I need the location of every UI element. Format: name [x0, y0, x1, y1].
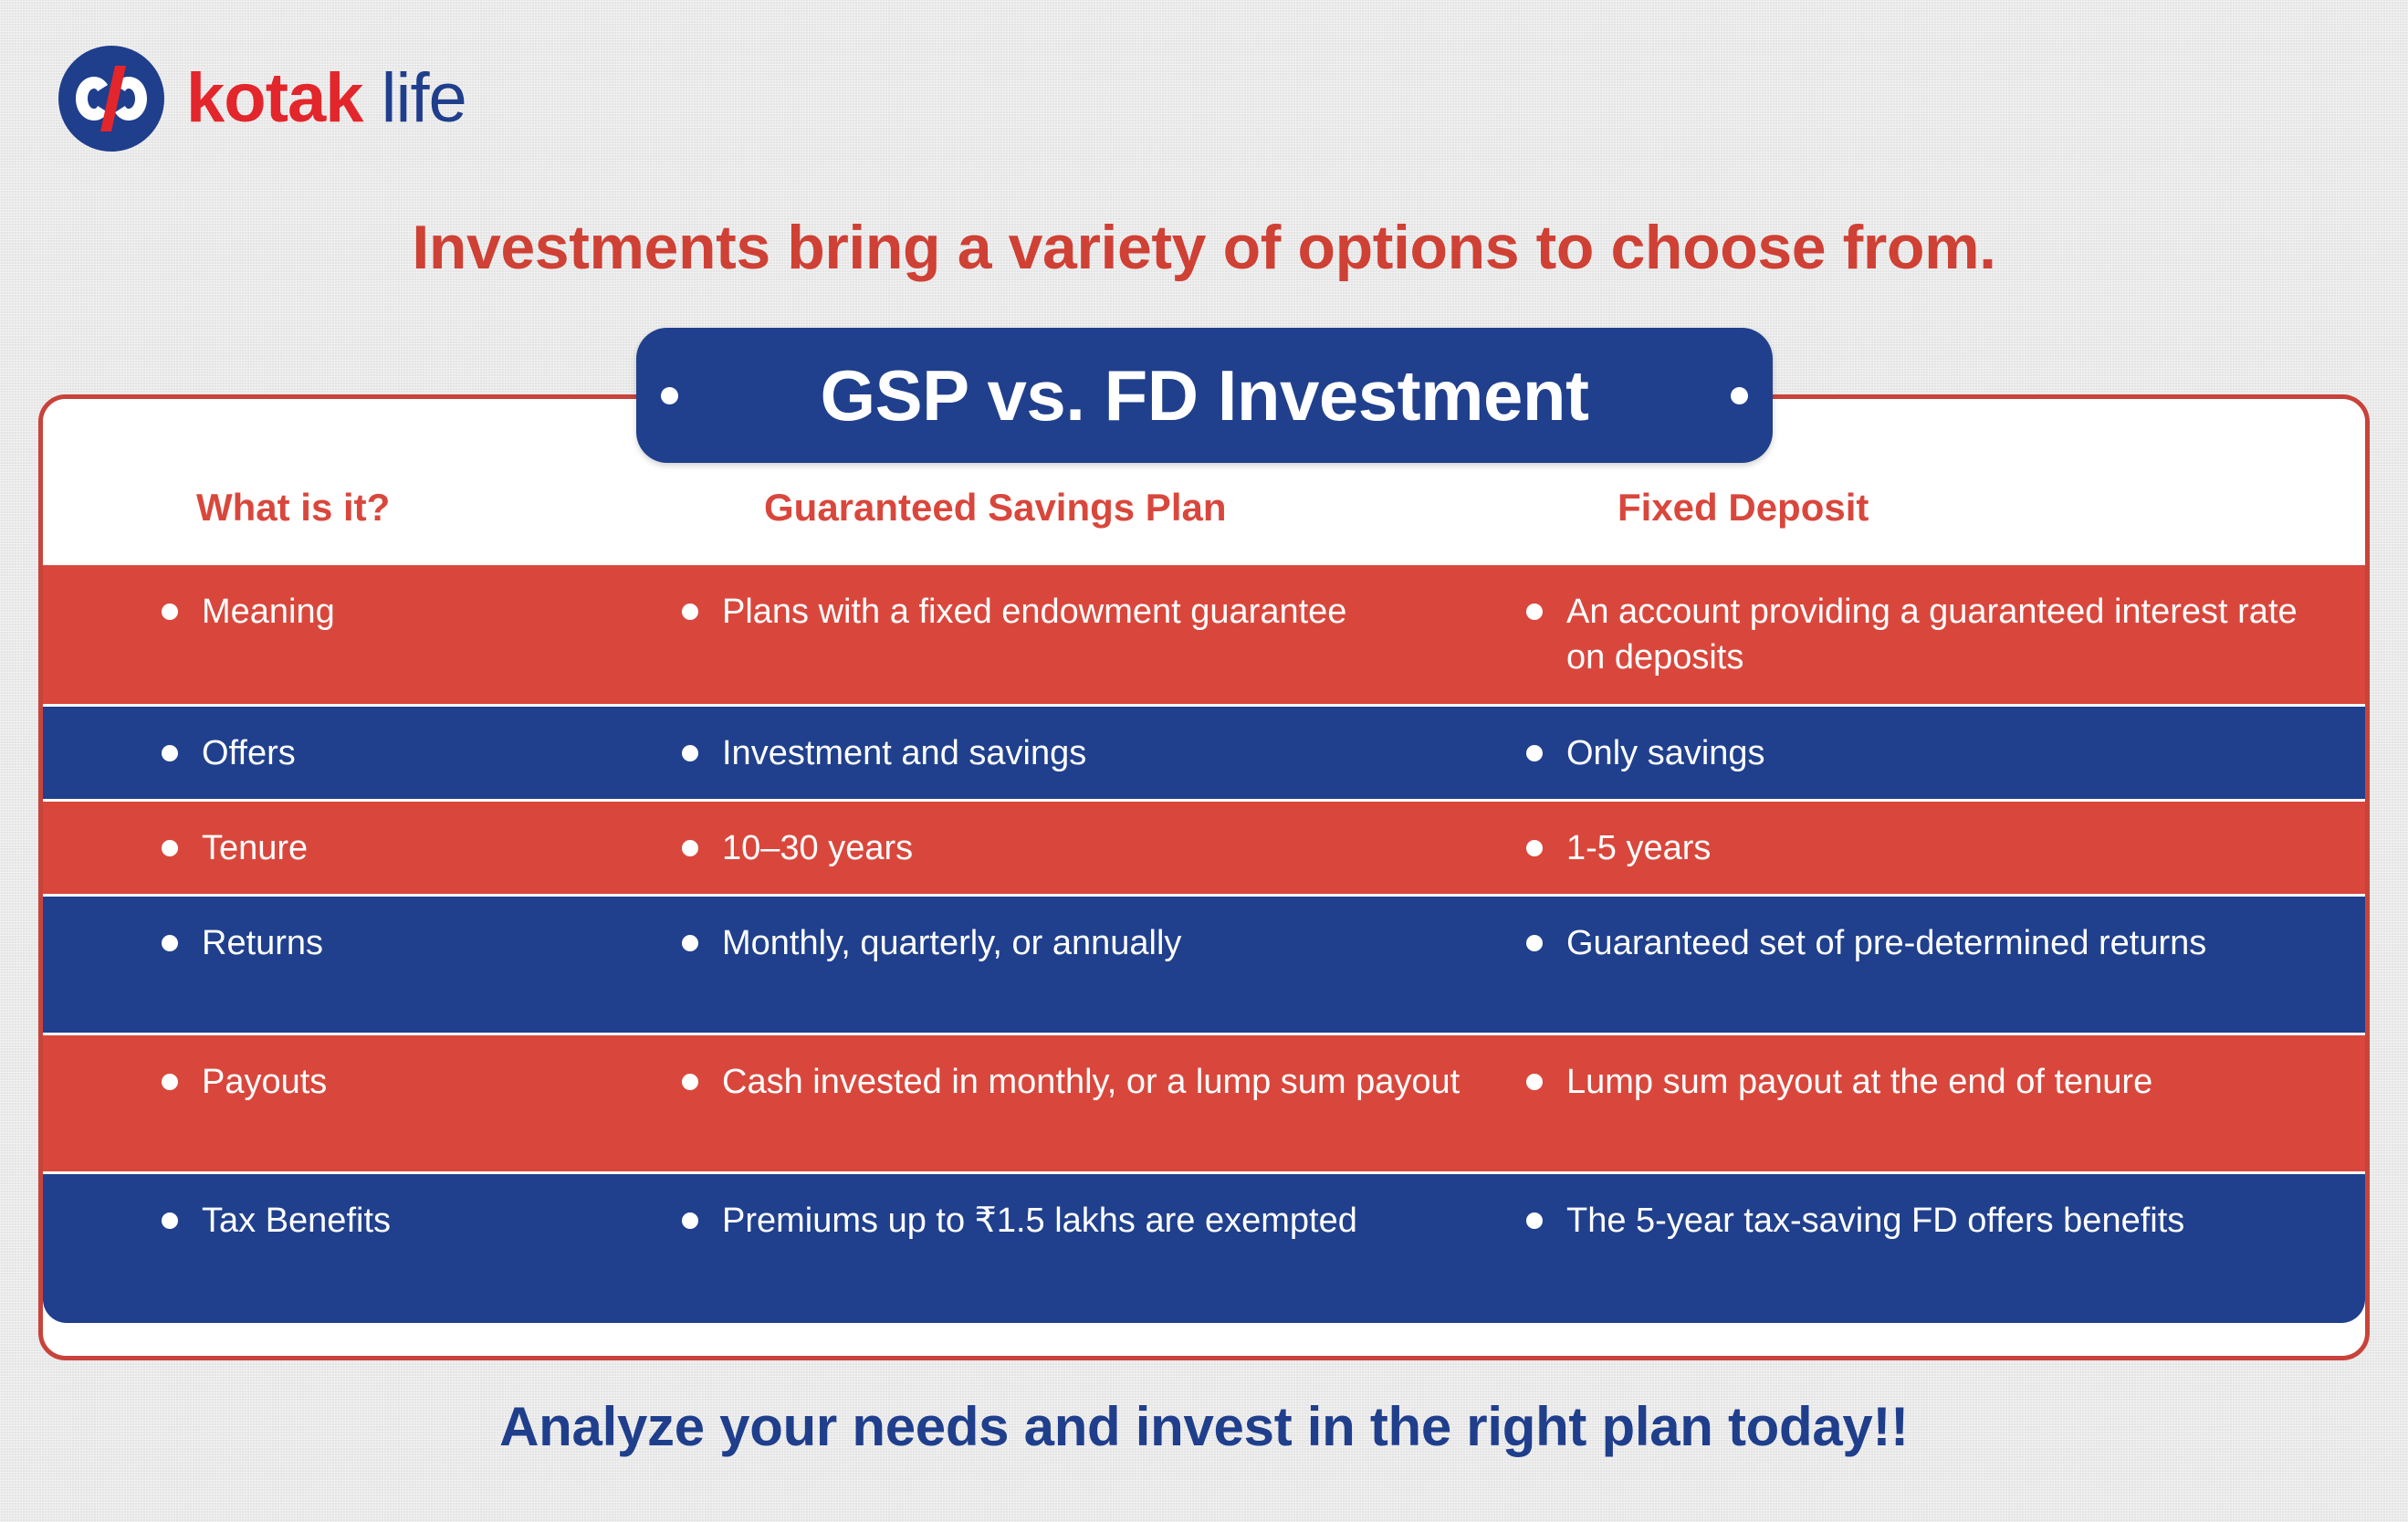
column-header-fixed-deposit: Fixed Deposit — [1618, 486, 1869, 530]
bullet-icon — [1526, 604, 1543, 620]
table-row: Tax BenefitsPremiums up to ₹1.5 lakhs ar… — [43, 1171, 2365, 1323]
row-value-fd-cell: An account providing a guaranteed intere… — [1508, 589, 2311, 680]
bullet-icon — [682, 1212, 698, 1229]
row-value-fd-cell: Guaranteed set of pre-determined returns — [1508, 920, 2311, 966]
table-row: OffersInvestment and savingsOnly savings — [43, 704, 2365, 799]
bullet-icon — [682, 604, 698, 620]
row-label: Payouts — [202, 1059, 327, 1105]
row-value-gsp-cell: Premiums up to ₹1.5 lakhs are exempted — [664, 1198, 1508, 1244]
row-label-cell: Tenure — [43, 825, 664, 871]
bullet-icon — [682, 1074, 698, 1090]
page-headline: Investments bring a variety of options t… — [0, 212, 2408, 283]
badge-title: GSP vs. FD Investment — [820, 354, 1588, 437]
row-value-gsp: Plans with a fixed endowment guarantee — [722, 589, 1346, 635]
brand-logo: kotak life — [57, 44, 466, 153]
row-value-fd-cell: The 5-year tax-saving FD offers benefits — [1508, 1198, 2311, 1244]
row-value-gsp-cell: Plans with a fixed endowment guarantee — [664, 589, 1508, 635]
row-value-gsp: Cash invested in monthly, or a lump sum … — [722, 1059, 1460, 1105]
bullet-icon — [162, 935, 178, 951]
row-label: Offers — [202, 730, 296, 776]
bullet-icon — [1526, 1074, 1543, 1090]
bullet-icon — [682, 745, 698, 761]
title-badge: GSP vs. FD Investment — [636, 328, 1773, 463]
table-row: PayoutsCash invested in monthly, or a lu… — [43, 1033, 2365, 1171]
footer-callout: Analyze your needs and invest in the rig… — [0, 1395, 2408, 1458]
bullet-icon — [162, 745, 178, 761]
bullet-icon — [682, 840, 698, 856]
row-value-fd-cell: Only savings — [1508, 730, 2311, 776]
row-label-cell: Meaning — [43, 589, 664, 635]
row-label-cell: Offers — [43, 730, 664, 776]
row-value-gsp: Monthly, quarterly, or annually — [722, 920, 1181, 966]
bullet-icon — [1526, 1212, 1543, 1229]
bullet-icon — [1526, 745, 1543, 761]
table-row: MeaningPlans with a fixed endowment guar… — [43, 565, 2365, 704]
row-value-fd: The 5-year tax-saving FD offers benefits — [1566, 1198, 2184, 1244]
row-value-fd: Only savings — [1566, 730, 1765, 776]
comparison-card: What is it? Guaranteed Savings Plan Fixe… — [38, 394, 2370, 1360]
row-value-gsp-cell: Monthly, quarterly, or annually — [664, 920, 1508, 966]
column-header-guaranteed-savings-plan: Guaranteed Savings Plan — [764, 486, 1227, 530]
brand-name-secondary: life — [382, 59, 466, 137]
row-value-fd: 1-5 years — [1566, 825, 1711, 871]
row-label: Tenure — [202, 825, 308, 871]
bullet-icon — [162, 1212, 178, 1229]
row-label: Meaning — [202, 589, 335, 635]
row-value-fd: An account providing a guaranteed intere… — [1566, 589, 2311, 680]
row-label-cell: Tax Benefits — [43, 1198, 664, 1244]
bullet-icon — [162, 840, 178, 856]
brand-name-primary: kotak — [186, 59, 363, 137]
row-label: Returns — [202, 920, 323, 966]
row-value-fd-cell: Lump sum payout at the end of tenure — [1508, 1059, 2311, 1105]
kotak-infinity-logo-icon — [57, 44, 166, 153]
comparison-rows: MeaningPlans with a fixed endowment guar… — [43, 565, 2365, 1323]
brand-wordmark: kotak life — [186, 64, 466, 133]
row-label-cell: Payouts — [43, 1059, 664, 1105]
row-value-fd-cell: 1-5 years — [1508, 825, 2311, 871]
row-value-gsp-cell: 10–30 years — [664, 825, 1508, 871]
table-row: ReturnsMonthly, quarterly, or annuallyGu… — [43, 894, 2365, 1033]
badge-dot-left-icon — [661, 387, 678, 404]
table-row: Tenure10–30 years1-5 years — [43, 799, 2365, 894]
row-value-gsp-cell: Investment and savings — [664, 730, 1508, 776]
column-header-what-is-it: What is it? — [196, 486, 390, 530]
bullet-icon — [1526, 840, 1543, 856]
row-label-cell: Returns — [43, 920, 664, 966]
row-value-fd: Lump sum payout at the end of tenure — [1566, 1059, 2152, 1105]
row-value-fd: Guaranteed set of pre-determined returns — [1566, 920, 2206, 966]
row-label: Tax Benefits — [202, 1198, 391, 1244]
bullet-icon — [162, 1074, 178, 1090]
bullet-icon — [1526, 935, 1543, 951]
row-value-gsp: Investment and savings — [722, 730, 1086, 776]
badge-dot-right-icon — [1731, 387, 1748, 404]
row-value-gsp-cell: Cash invested in monthly, or a lump sum … — [664, 1059, 1508, 1105]
row-value-gsp: 10–30 years — [722, 825, 913, 871]
bullet-icon — [682, 935, 698, 951]
row-value-gsp: Premiums up to ₹1.5 lakhs are exempted — [722, 1198, 1357, 1244]
bullet-icon — [162, 604, 178, 620]
